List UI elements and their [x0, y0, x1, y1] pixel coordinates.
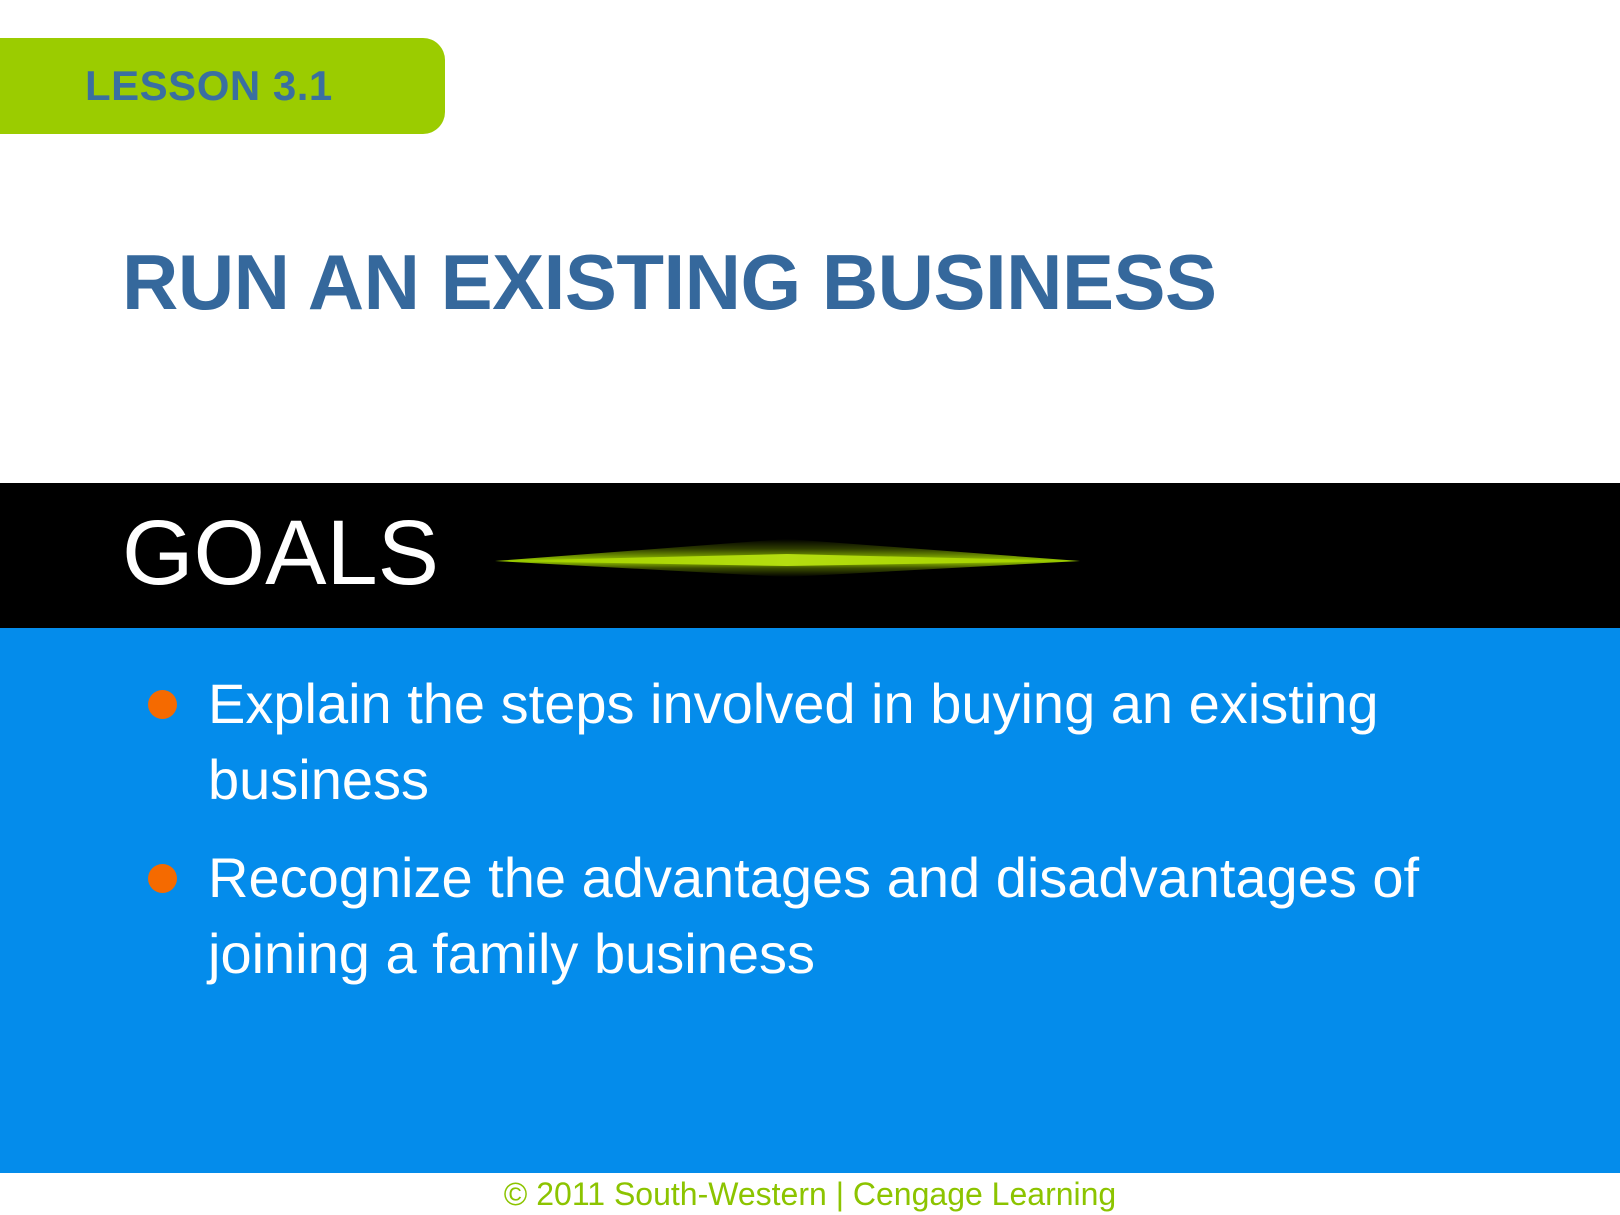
list-item: Recognize the advantages and disadvantag…: [0, 840, 1620, 992]
goals-heading: GOALS: [122, 498, 439, 608]
goal-list: Explain the steps involved in buying an …: [0, 628, 1620, 992]
list-item: Explain the steps involved in buying an …: [0, 666, 1620, 818]
goals-body: Explain the steps involved in buying an …: [0, 628, 1620, 1173]
footer: © 2011 South-Western | Cengage Learning: [0, 1173, 1620, 1215]
bullet-icon: [148, 690, 177, 719]
bullet-icon: [148, 864, 177, 893]
goal-text: Explain the steps involved in buying an …: [208, 672, 1379, 811]
lesson-badge: LESSON 3.1: [0, 38, 445, 134]
page-title: RUN AN EXISTING BUSINESS: [122, 230, 1272, 334]
goal-text: Recognize the advantages and disadvantag…: [208, 846, 1419, 985]
lesson-badge-label: LESSON 3.1: [85, 38, 333, 134]
slide: LESSON 3.1 RUN AN EXISTING BUSINESS GOAL…: [0, 0, 1620, 1215]
copyright-text: © 2011 South-Western | Cengage Learning: [504, 1173, 1116, 1215]
